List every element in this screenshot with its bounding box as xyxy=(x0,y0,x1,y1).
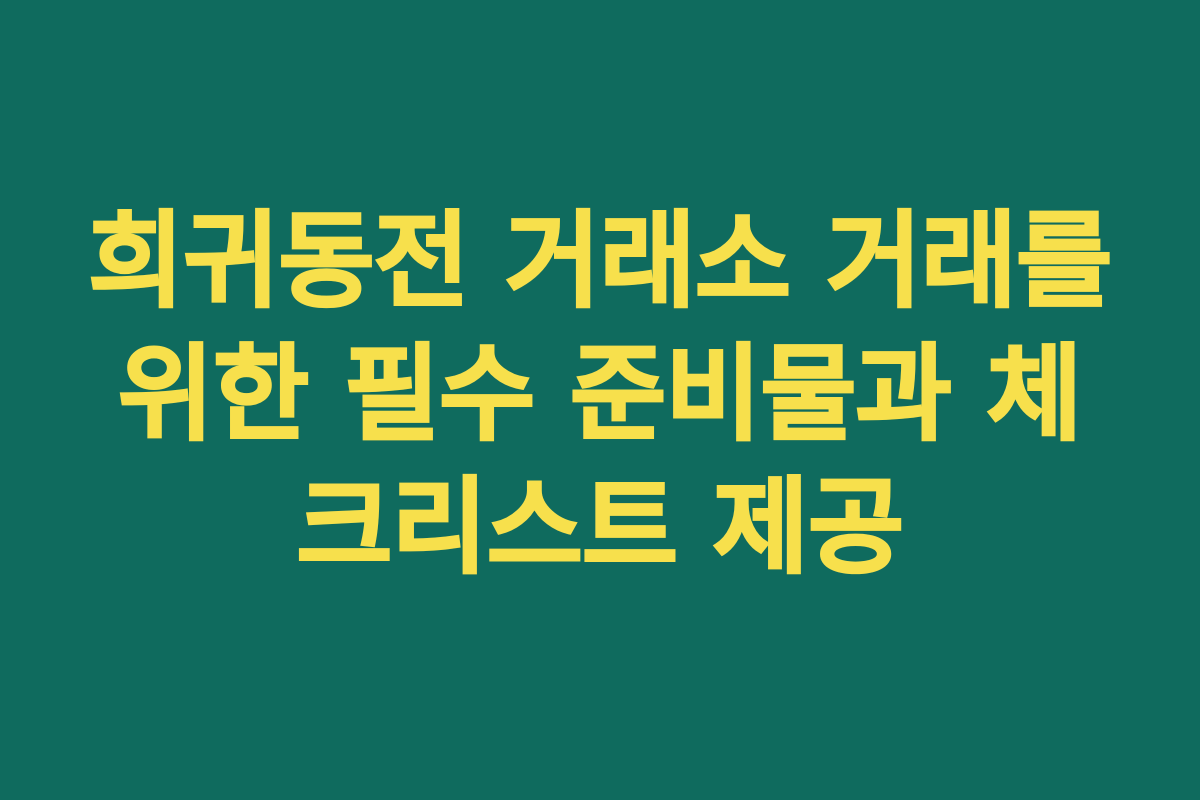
headline-block: 희귀동전 거래소 거래를 위한 필수 준비물과 체 크리스트 제공 xyxy=(70,195,1130,594)
headline-line-1: 희귀동전 거래소 거래를 xyxy=(70,195,1130,328)
headline-line-2: 위한 필수 준비물과 체 xyxy=(70,328,1130,461)
headline-line-3: 크리스트 제공 xyxy=(70,461,1130,594)
poster-canvas: 희귀동전 거래소 거래를 위한 필수 준비물과 체 크리스트 제공 xyxy=(0,0,1200,800)
